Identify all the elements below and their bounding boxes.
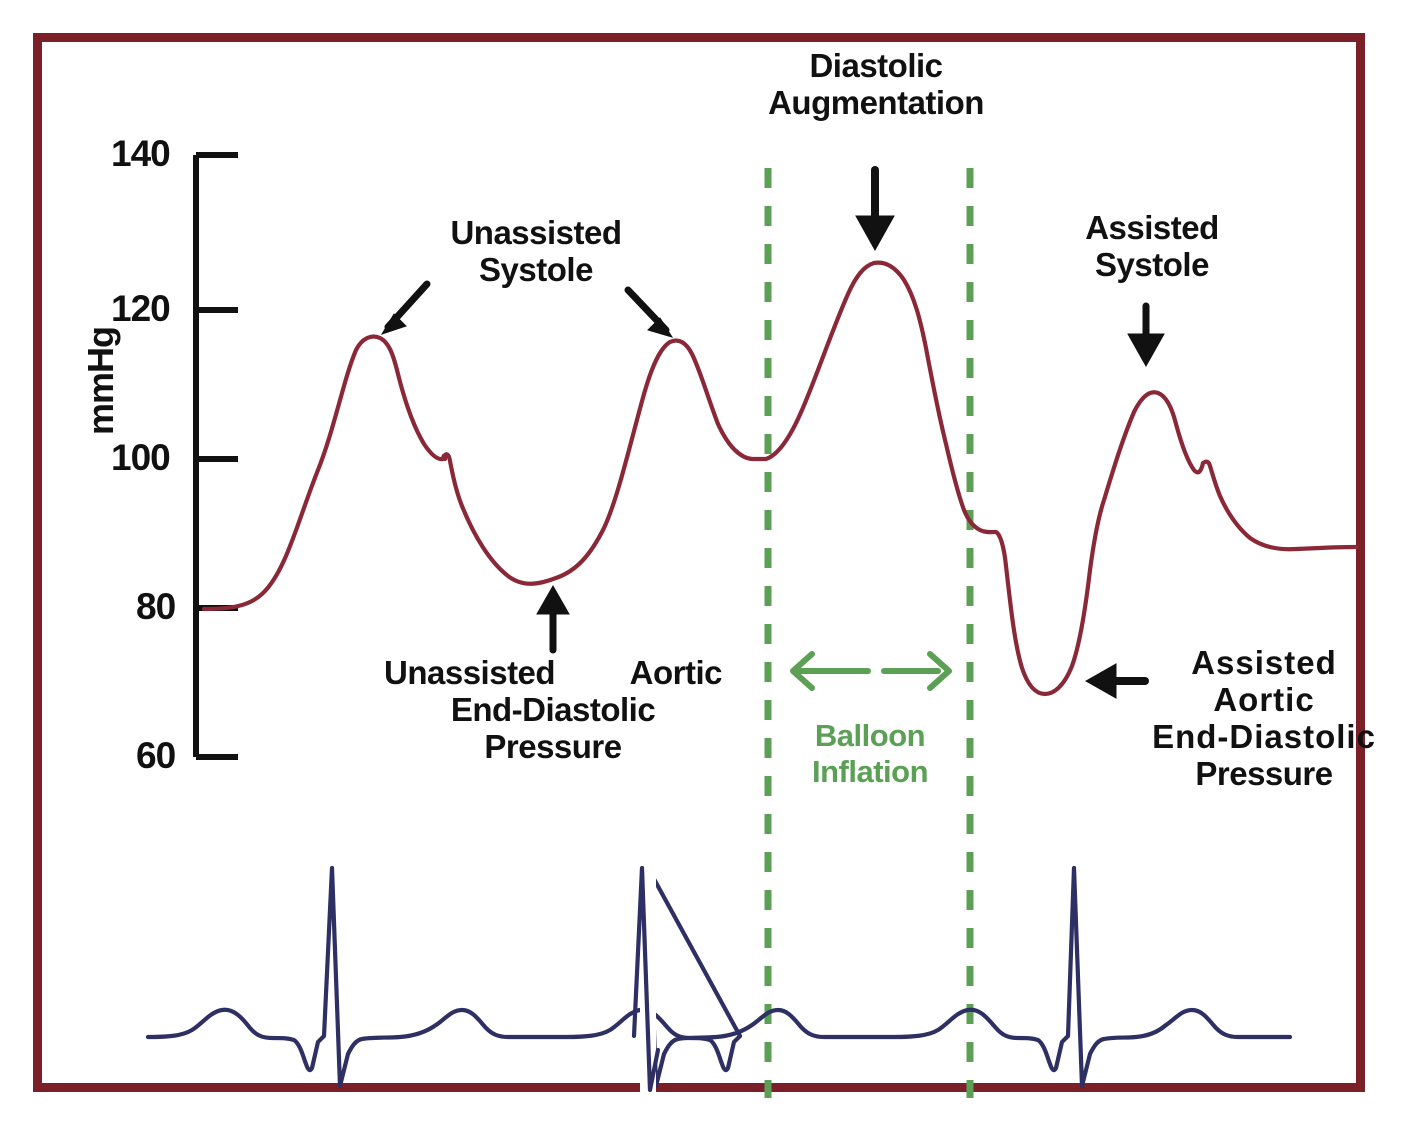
arrow-assisted-edp (1086, 664, 1145, 698)
label-diastolic-augmentation-line1: Diastolic (728, 48, 1024, 85)
label-assisted-systole-line1: Assisted (1062, 210, 1242, 247)
label-diastolic-augmentation: Diastolic Augmentation (728, 48, 1024, 122)
arrow-diastolic-augmentation (856, 170, 894, 250)
label-assisted-systole-line2: Systole (1062, 247, 1242, 284)
y-tick-80: 80 (136, 586, 175, 628)
arterial-pressure-waveform (204, 263, 1356, 694)
label-assisted-edp-line2: End-Diastolic (1148, 719, 1380, 756)
arrow-unassisted-systole-right (628, 290, 672, 337)
label-unassisted-edp-line1b: Aortic (630, 655, 722, 692)
y-axis (196, 155, 238, 757)
label-unassisted-edp: Unassisted Aortic End-Diastolic Pressure (378, 655, 728, 766)
label-assisted-edp-line1: Assisted Aortic (1148, 645, 1380, 719)
label-assisted-systole: Assisted Systole (1062, 210, 1242, 284)
y-tick-60: 60 (136, 735, 175, 777)
balloon-inflation-markers (768, 168, 970, 1098)
arrow-unassisted-edp (537, 586, 569, 650)
label-balloon-inflation: Balloon Inflation (790, 718, 950, 789)
y-tick-140: 140 (111, 133, 170, 175)
balloon-inflation-double-arrow (793, 654, 949, 688)
label-assisted-edp-line3: Pressure (1148, 756, 1380, 793)
label-unassisted-systole: Unassisted Systole (426, 215, 646, 289)
label-assisted-edp: Assisted Aortic End-Diastolic Pressure (1148, 645, 1380, 793)
label-diastolic-augmentation-line2: Augmentation (728, 85, 1024, 122)
label-balloon-inflation-line2: Inflation (790, 754, 950, 790)
waveform-plot (0, 0, 1417, 1138)
label-unassisted-edp-line2: End-Diastolic Pressure (378, 692, 728, 766)
y-axis-label: mmHg (80, 301, 122, 461)
arrow-assisted-systole (1128, 306, 1164, 366)
arrow-unassisted-systole-left (382, 284, 427, 334)
label-balloon-inflation-line1: Balloon (790, 718, 950, 754)
label-unassisted-systole-line1: Unassisted (426, 215, 646, 252)
ecg-trace (148, 868, 1290, 1086)
label-unassisted-systole-line2: Systole (426, 252, 646, 289)
label-unassisted-edp-line1a: Unassisted (384, 655, 555, 692)
